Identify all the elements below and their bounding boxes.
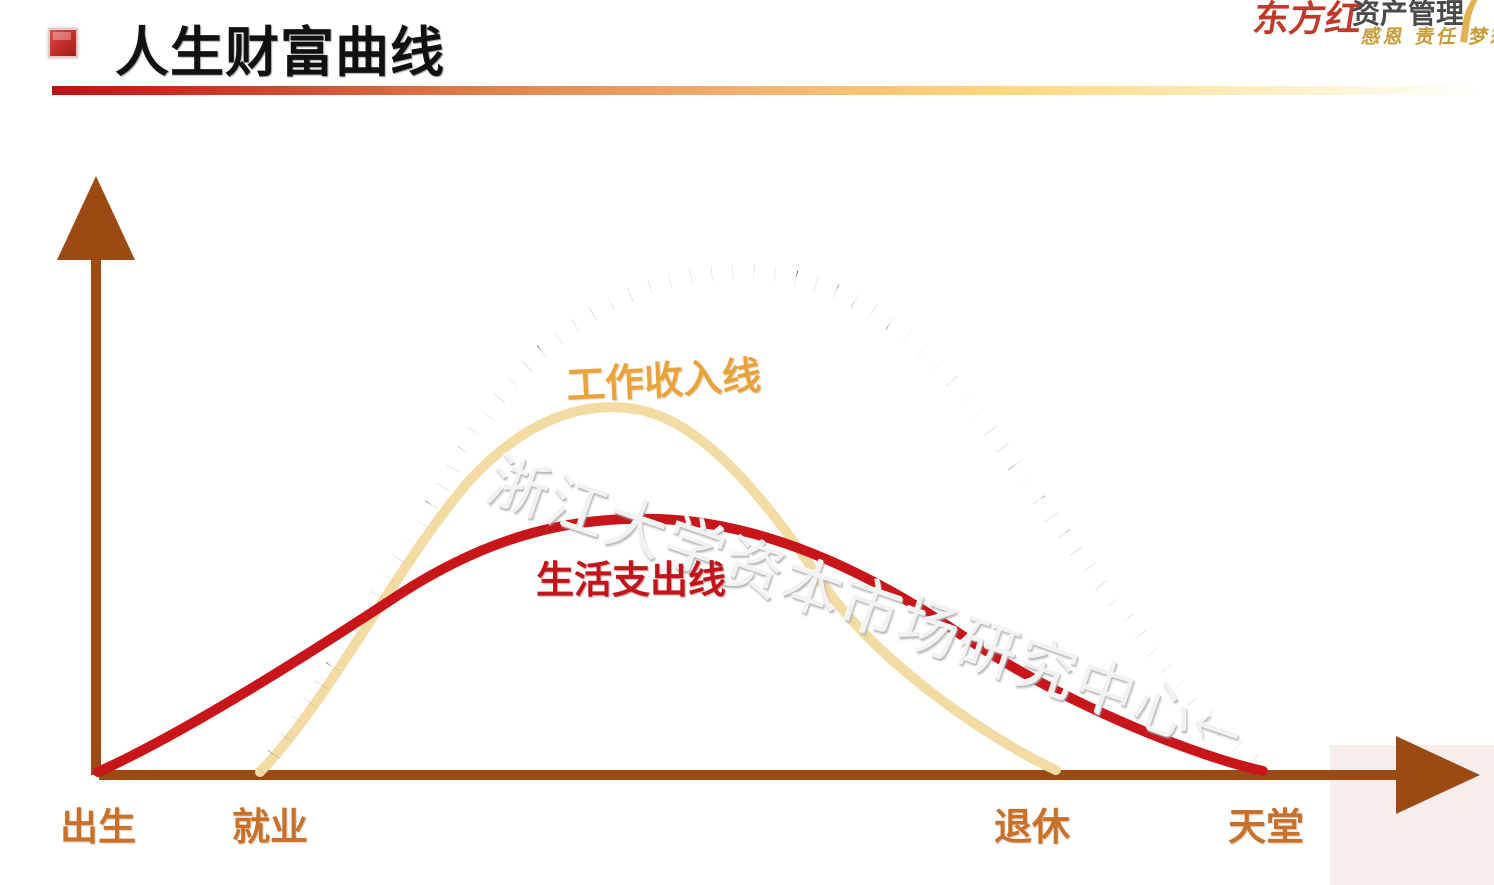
chart-svg [0,0,1494,885]
header-gradient-divider [52,86,1482,95]
axis-stage-label-employment: 就业 [232,796,308,851]
slide-canvas: 浙江大学资本市场研究中心← 工作收入线 生活支出线 出生 就业 退休 天堂 人生… [0,0,1494,885]
series-wealth-curve-line [262,272,1264,772]
red-square-bullet-icon [48,28,78,58]
logo-swoosh-icon [1460,0,1494,48]
axis-stage-label-retirement: 退休 [994,796,1070,851]
page-title: 人生财富曲线 [115,8,445,87]
wealth-curve-chart [0,0,1494,885]
brand-logo: 东方红 资产管理 感恩 责任 梦想 [1232,0,1494,48]
label-living-expense-line: 生活支出线 [536,549,726,604]
label-work-income-line: 工作收入线 [565,345,763,411]
axis-stage-label-heaven: 天堂 [1228,796,1304,851]
axis-stage-label-birth: 出生 [60,796,136,851]
logo-brand-name: 东方红 [1250,0,1366,42]
